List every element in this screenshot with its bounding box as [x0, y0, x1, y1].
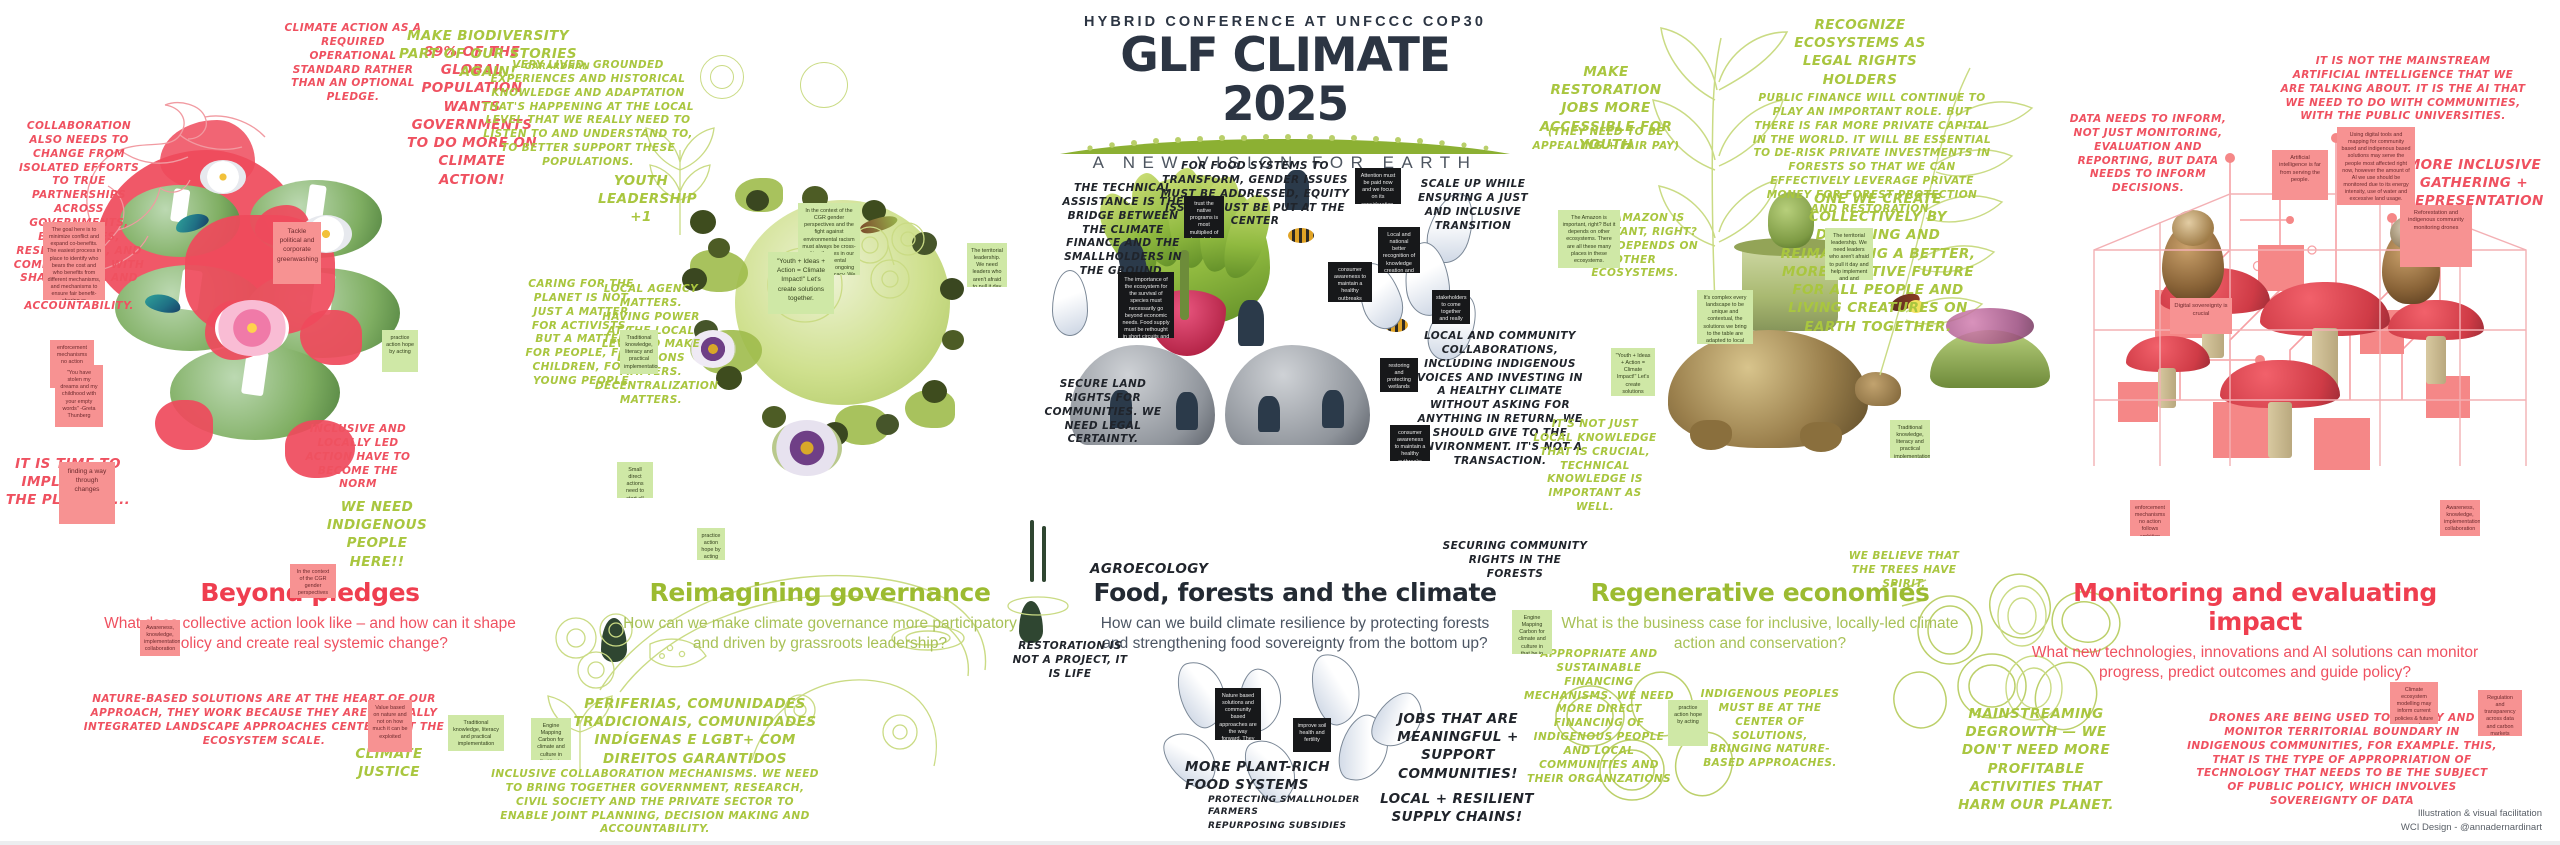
bottom-divider — [0, 841, 2560, 845]
note-digital-sovereignty: Digital sovereignty is crucial — [2170, 298, 2232, 334]
annotation-local-resilient-supply-chains: LOCAL + RESILIENT SUPPLY CHAINS! — [1378, 790, 1536, 826]
sticky-note: improve soil health and fertility — [1293, 718, 1331, 752]
sticky-note: Local and national better recognition of… — [1378, 227, 1420, 273]
tortoise-leg-1 — [1690, 420, 1732, 450]
annotation-more-inclusive-gathering: MORE INCLUSIVE GATHERING + REPRESENTATIO… — [2400, 156, 2548, 211]
sticky-note: Engine Mapping Carbon for climate and cu… — [1512, 610, 1552, 654]
note-reforestation-drones: Reforestation and indigenous community m… — [2400, 205, 2472, 267]
sticky-note: consumer awareness to maintain a healthy… — [1390, 425, 1430, 461]
annotation-securing-community-rights: SECURING COMMUNITY RIGHTS IN THE FORESTS — [1440, 540, 1590, 582]
annotation-mainstreaming-degrowth: MAINSTREAMING DEGROWTH — WE DON'T NEED M… — [1952, 705, 2120, 814]
section-header-reimagining-governance: Reimagining governance How can we make c… — [620, 578, 1020, 654]
farmer-silhouette-7 — [1322, 390, 1344, 428]
sticky-note: enforcement mechanisms no action follows… — [2130, 500, 2170, 536]
farmer-silhouette-3 — [1238, 300, 1264, 346]
logo-title: GLF CLIMATE 2025 — [1050, 32, 1520, 130]
section-title: Reimagining governance — [620, 578, 1020, 607]
section-header-food-forests-climate: Food, forests and the climate How can we… — [1090, 578, 1500, 654]
annotation-not-just-local-knowledge: IT'S NOT JUST LOCAL KNOWLEDGE THAT IS CR… — [1530, 418, 1660, 515]
annotation-agroecology: AGROECOLOGY — [1090, 560, 1220, 578]
annotation-recognize-ecosystems-legal-rights: RECOGNIZE ECOSYSTEMS AS LEGAL RIGHTS HOL… — [1772, 16, 1948, 89]
annotation-scale-up-just-transition: SCALE UP WHILE ENSURING A JUST AND INCLU… — [1413, 178, 1533, 233]
sticky-note: "You have stolen my dreams and my childh… — [55, 365, 103, 427]
section-title: Food, forests and the climate — [1090, 578, 1500, 607]
annotation-lived-grounded-experiences: VERY LIVED, GROUNDED EXPERIENCES AND HIS… — [480, 59, 696, 170]
sticky-note: restoring and protecting wetlands and ma… — [1380, 358, 1418, 392]
annotation-jobs-meaningful-support: JOBS THAT ARE MEANINGFUL + SUPPORT COMMU… — [1382, 710, 1534, 783]
sticky-note: Tackle political and corporate greenwash… — [273, 222, 321, 284]
event-logo: HYBRID CONFERENCE AT UNFCCC COP30 GLF CL… — [1050, 14, 1520, 173]
annotation-secure-land-rights: SECURE LAND RIGHTS FOR COMMUNITIES. WE N… — [1040, 378, 1166, 447]
flower-outline-1b — [710, 65, 734, 89]
sticky-note: Attention must be paid now and we focus … — [1355, 168, 1401, 204]
sticky-note: The goal here is to minimize conflict an… — [43, 222, 105, 300]
red-splash-3 — [300, 310, 362, 365]
annotation-indigenous-peoples-center: INDIGENOUS PEOPLES MUST BE AT THE CENTER… — [1700, 688, 1840, 771]
sticky-note: Traditional knowledge, literacy and prac… — [620, 330, 658, 374]
sticky-note: finding a way through changes — [59, 462, 115, 524]
flower-outline-2 — [800, 62, 848, 108]
section-title: Monitoring and evaluating impact — [2030, 578, 2480, 636]
sticky-note: "Youth + Ideas + Action = Climate Impact… — [1611, 348, 1655, 396]
annotation-appealing-fair-pay: (THEY NEED TO BE APPEALING + FAIR PAY) — [1530, 126, 1682, 154]
water-lily-pink — [215, 300, 289, 356]
annotation-inclusive-locally-led: INCLUSIVE AND LOCALLY LED ACTION HAVE TO… — [300, 423, 416, 492]
annotation-protecting-smallholder-farmers: PROTECTING SMALLHOLDER FARMERS — [1208, 795, 1376, 818]
sticky-note: Regulation and transparency across data … — [2478, 690, 2522, 736]
tortoise-leg-2 — [1800, 422, 1842, 452]
sticky-note: stakeholders to come together and really… — [1432, 290, 1470, 324]
sticky-note: Traditional knowledge, literacy and prac… — [1890, 420, 1930, 458]
sticky-note: trust the native programs is most multip… — [1184, 196, 1224, 238]
annotation-financing-mechanisms: APPROPRIATE AND SUSTAINABLE FINANCING ME… — [1520, 648, 1678, 787]
annotation-youth-leadership: YOUTH LEADERSHIP +1 — [598, 172, 684, 227]
sticky-note: It's complex every landscape to be uniqu… — [1697, 290, 1753, 344]
sticky-note: Using digital tools and mapping for comm… — [2337, 127, 2415, 205]
section-question: How can we build climate resilience by p… — [1090, 614, 1500, 654]
section-header-monitoring-evaluating-impact: Monitoring and evaluating impact What ne… — [2030, 578, 2480, 683]
seed-outline-1 — [1052, 270, 1088, 336]
annotation-create-collectively: ONE WE CREATE COLLECTIVELY BY DREAMING A… — [1772, 190, 1984, 336]
credit-block: Illustration & visual facilitation WCI D… — [2401, 807, 2542, 835]
sticky-note: Awareness, knowledge, implementation, co… — [2440, 500, 2480, 536]
annotation-food-systems-gender: FOR FOOD SYSTEMS TO TRANSFORM, GENDER IS… — [1150, 160, 1360, 229]
annotation-drones-survey-monitor: DRONES ARE BEING USED TO SURVEY AND MONI… — [2186, 712, 2498, 809]
red-splash-4 — [155, 400, 213, 450]
sticky-note: Awareness, knowledge, implementation, co… — [140, 620, 180, 656]
sticky-note: practice action hope by acting — [382, 330, 418, 372]
sticky-note: The importance of the ecosystem for the … — [1118, 272, 1174, 338]
annotation-inclusive-collaboration-mechanisms: INCLUSIVE COLLABORATION MECHANISMS. WE N… — [490, 768, 820, 837]
sticky-note: Climate ecosystem modelling may inform c… — [2390, 682, 2438, 724]
annotation-periferias-comunidades: PERIFERIAS, COMUNIDADES TRADICIONAIS, CO… — [560, 695, 830, 768]
annotation-trees-have-spirit: WE BELIEVE THAT THE TREES HAVE SPIRIT. — [1838, 550, 1970, 592]
annotation-restoration-not-project: RESTORATION IS NOT A PROJECT, IT IS LIFE — [1010, 640, 1130, 682]
sticky-note: practice action hope by acting — [697, 528, 725, 560]
credit-line-2: WCI Design - @annadernardinart — [2401, 821, 2542, 835]
section-question: What new technologies, innovations and A… — [2030, 643, 2480, 683]
sticky-note: The territorial leadership. We need lead… — [967, 243, 1007, 287]
farmer-silhouette-6 — [1258, 396, 1280, 432]
sticky-note: Traditional knowledge, literacy and prac… — [448, 715, 504, 751]
sticky-note: Value based on nature and not on how muc… — [368, 700, 412, 752]
sticky-note: "Youth + Ideas + Action = Climate Impact… — [768, 252, 834, 314]
sticky-note: consumer awareness to maintain a healthy… — [1328, 262, 1372, 302]
farmer-silhouette-5 — [1176, 392, 1198, 430]
logo-arc-graphic — [1050, 132, 1520, 152]
section-question: How can we make climate governance more … — [620, 614, 1020, 654]
annotation-we-need-indigenous-people: WE NEED INDIGENOUS PEOPLE HERE!! — [322, 498, 432, 571]
sticky-note: The Amazon is important, right? But it d… — [1558, 210, 1620, 268]
credit-line-1: Illustration & visual facilitation — [2401, 807, 2542, 821]
annotation-repurposing-subsidies: REPURPOSING SUBSIDIES — [1208, 821, 1376, 833]
annotation-more-plant-rich-food-systems: MORE PLANT-RICH FOOD SYSTEMS — [1185, 758, 1335, 794]
bee-1 — [1288, 228, 1314, 243]
sticky-note: Small direct actions need to start all o… — [617, 462, 653, 498]
sticky-note: The territorial leadership. We need lead… — [1825, 228, 1873, 280]
note-ai-far-from-serving: Artificial intelligence is far from serv… — [2272, 150, 2328, 200]
sticky-note: practice action hope by acting — [1668, 700, 1708, 746]
grain-pile-right — [1225, 345, 1370, 445]
sticky-note: Nature based solutions and community bas… — [1215, 688, 1261, 740]
sticky-note: Engine Mapping Carbon for climate and cu… — [531, 718, 571, 760]
annotation-data-needs-to-inform: DATA NEEDS TO INFORM, NOT JUST MONITORIN… — [2068, 113, 2228, 196]
passionflower — [772, 420, 842, 476]
sticky-note: In the context of the CGR gender perspec… — [290, 564, 336, 598]
infographic-poster: HYBRID CONFERENCE AT UNFCCC COP30 GLF CL… — [0, 0, 2560, 845]
annotation-not-mainstream-ai: IT IS NOT THE MAINSTREAM ARTIFICIAL INTE… — [2280, 55, 2526, 124]
